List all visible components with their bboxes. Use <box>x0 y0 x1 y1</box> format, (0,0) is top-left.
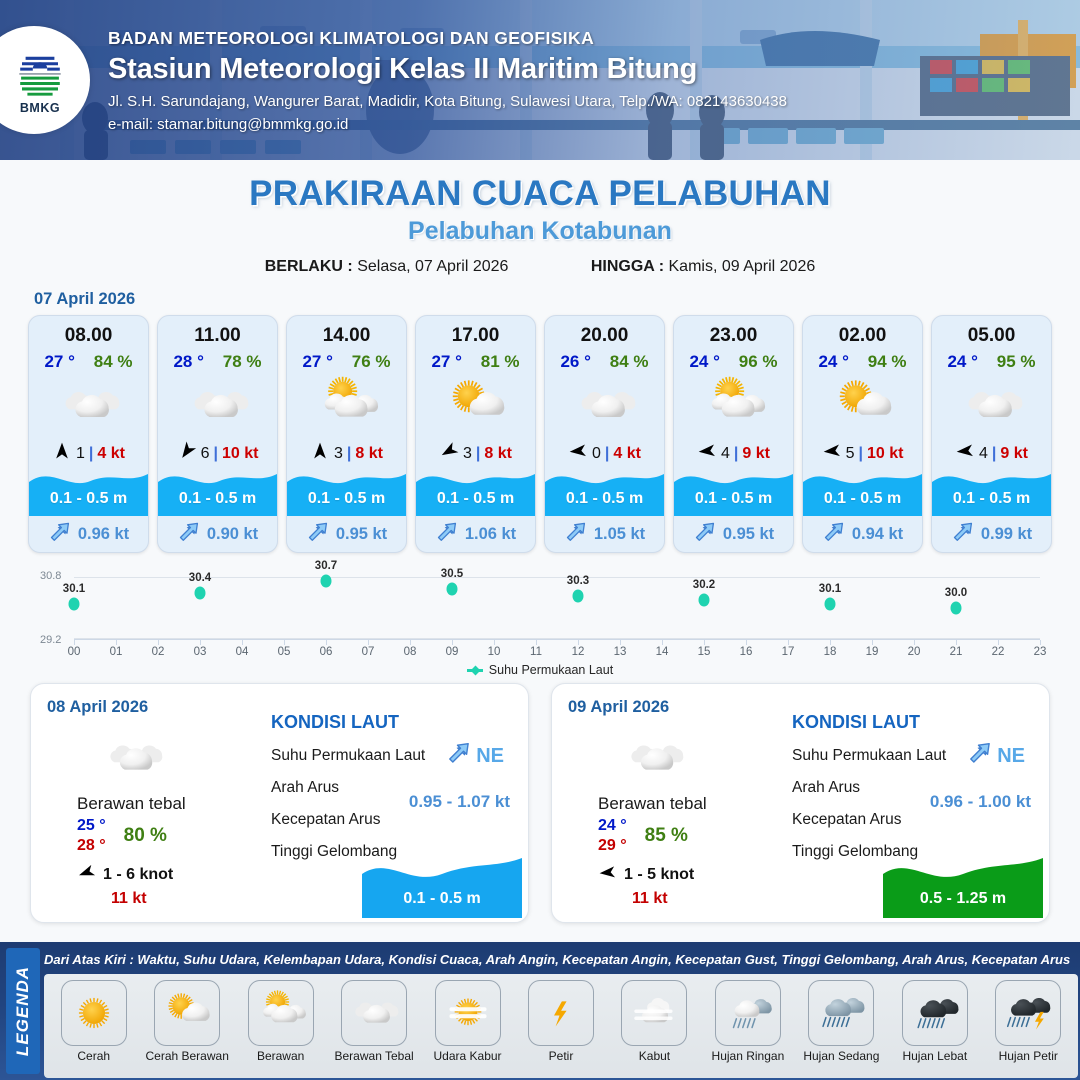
station-email: e-mail: stamar.bitung@bmmkg.go.id <box>108 116 787 133</box>
chart-x-tick <box>788 640 789 645</box>
chart-point-label: 30.1 <box>63 583 85 595</box>
valid-until-label: HINGGA : <box>591 258 664 275</box>
card-current-row: 1.06 kt <box>416 516 535 552</box>
card-wind-direction: 1 <box>76 445 85 463</box>
panel-gust: 11 kt <box>632 890 778 908</box>
chart-x-tick-label: 12 <box>572 646 585 658</box>
card-humidity: 95 % <box>997 352 1036 372</box>
legend-item-label: Hujan Sedang <box>803 1049 879 1063</box>
current-arrow-icon <box>48 520 72 549</box>
chart-x-tick <box>200 640 201 645</box>
current-arrow-icon <box>306 520 330 549</box>
legend-icon-hujan-lebat <box>902 980 968 1046</box>
title-block: PRAKIRAAN CUACA PELABUHAN Pelabuhan Kota… <box>0 160 1080 276</box>
card-wind-speed: 4 kt <box>97 445 125 463</box>
chart-x-tick <box>158 640 159 645</box>
card-current-row: 0.90 kt <box>158 516 277 552</box>
chart-y-tick-label: 30.8 <box>40 570 61 582</box>
card-humidity: 78 % <box>223 352 262 372</box>
chart-x-tick <box>662 640 663 645</box>
card-wave-graphic: 0.1 - 0.5 m <box>416 464 535 516</box>
forecast-card: 17.00 27 ° 81 % 3 | 8 kt <box>415 315 536 553</box>
forecast-card: 02.00 24 ° 94 % 5 | 10 kt <box>802 315 923 553</box>
card-weather-icon <box>545 375 664 435</box>
chart-x-tick <box>1040 640 1041 645</box>
legend-item-label: Hujan Lebat <box>902 1049 967 1063</box>
chart-data-point <box>321 574 332 587</box>
chart-x-tick <box>620 640 621 645</box>
legend-icon-hujan-sedang <box>808 980 874 1046</box>
card-weather-icon <box>416 375 535 435</box>
legend-icon-strip: Cerah Cerah Berawan <box>44 974 1078 1078</box>
legend-item: Cerah <box>48 980 139 1063</box>
chart-x-tick <box>536 640 537 645</box>
panel-temp-min: 24 ° <box>598 817 627 835</box>
chart-x-tick <box>74 640 75 645</box>
chart-x-tick-label: 18 <box>824 646 837 658</box>
chart-point-label: 30.7 <box>315 560 337 572</box>
card-wind-speed: 8 kt <box>355 445 383 463</box>
card-wind-direction: 3 <box>463 445 472 463</box>
wind-direction-arrow-icon <box>177 441 197 466</box>
chart-data-point <box>195 586 206 599</box>
panel-condition: Berawan tebal <box>77 794 257 814</box>
chart-x-tick-label: 16 <box>740 646 753 658</box>
page-title: PRAKIRAAN CUACA PELABUHAN <box>0 174 1080 214</box>
card-wind-direction: 6 <box>201 445 210 463</box>
chart-x-tick-label: 14 <box>656 646 669 658</box>
wind-separator: | <box>213 445 217 463</box>
legend-item: Berawan <box>235 980 326 1063</box>
card-temperature: 28 ° <box>173 352 203 372</box>
legend-icon-udara-kabur <box>435 980 501 1046</box>
card-time: 14.00 <box>287 316 406 347</box>
wind-separator: | <box>347 445 351 463</box>
legend-icon-cerah-berawan <box>154 980 220 1046</box>
card-humidity: 81 % <box>481 352 520 372</box>
card-wind-row: 6 | 10 kt <box>158 441 277 466</box>
chart-x-tick-label: 06 <box>320 646 333 658</box>
bmkg-emblem-icon <box>13 46 67 100</box>
chart-x-tick-label: 07 <box>362 646 375 658</box>
legend-item-label: Cerah <box>77 1049 110 1063</box>
agency-name: BADAN METEOROLOGI KLIMATOLOGI DAN GEOFIS… <box>108 28 787 49</box>
forecast-card: 23.00 24 ° 96 % 4 | 9 kt <box>673 315 794 553</box>
card-current-speed: 0.96 kt <box>78 525 129 544</box>
chart-x-tick-label: 21 <box>950 646 963 658</box>
chart-x-tick-label: 11 <box>530 646 542 658</box>
card-wind-direction: 5 <box>846 445 855 463</box>
legend-note: Dari Atas Kiri : Waktu, Suhu Udara, Kele… <box>44 952 1076 967</box>
panel-weather-icon <box>77 728 257 788</box>
panel-current-speed-value: 0.96 - 1.00 kt <box>930 792 1031 812</box>
card-wind-row: 0 | 4 kt <box>545 441 664 466</box>
chart-point-label: 30.0 <box>945 587 967 599</box>
panel-wind-range: 1 - 5 knot <box>624 866 694 884</box>
card-wave-graphic: 0.1 - 0.5 m <box>287 464 406 516</box>
wind-separator: | <box>858 445 862 463</box>
card-temperature: 26 ° <box>560 352 590 372</box>
legend-icon-kabut <box>621 980 687 1046</box>
wind-direction-arrow-icon <box>310 441 330 466</box>
card-time: 02.00 <box>803 316 922 347</box>
card-current-row: 0.99 kt <box>932 516 1051 552</box>
legend-icon-berawan-tebal <box>341 980 407 1046</box>
chart-y-tick-label: 29.2 <box>40 634 61 646</box>
chart-data-point <box>951 602 962 615</box>
card-wave-graphic: 0.1 - 0.5 m <box>674 464 793 516</box>
current-arrow-icon <box>564 520 588 549</box>
card-time: 05.00 <box>932 316 1051 347</box>
card-wave-graphic: 0.1 - 0.5 m <box>545 464 664 516</box>
card-current-speed: 1.05 kt <box>594 525 645 544</box>
legend-icon-cerah <box>61 980 127 1046</box>
chart-legend: Suhu Permukaan Laut <box>28 663 1052 677</box>
panel-wind-range: 1 - 6 knot <box>103 866 173 884</box>
chart-x-tick <box>956 640 957 645</box>
chart-x-tick-label: 04 <box>236 646 249 658</box>
panel-sea-heading: KONDISI LAUT <box>792 712 1037 733</box>
card-wind-speed: 9 kt <box>1000 445 1028 463</box>
card-time: 08.00 <box>29 316 148 347</box>
bmkg-logo-label: BMKG <box>20 101 60 115</box>
panel-temp-max: 29 ° <box>598 837 627 855</box>
card-current-row: 0.95 kt <box>287 516 406 552</box>
card-temperature: 24 ° <box>818 352 848 372</box>
card-wind-speed: 10 kt <box>222 445 258 463</box>
legend-icon-hujan-ringan <box>715 980 781 1046</box>
chart-x-tick-label: 17 <box>782 646 795 658</box>
chart-x-tick <box>326 640 327 645</box>
daily-forecast-panels: 08 April 2026 Berawan tebal 25 ° 28 ° <box>0 683 1080 923</box>
panel-weather-icon <box>598 728 778 788</box>
chart-x-tick-label: 00 <box>68 646 81 658</box>
forecast-day-label: 07 April 2026 <box>34 290 1080 309</box>
card-temperature: 24 ° <box>689 352 719 372</box>
wind-direction-arrow-icon <box>439 441 459 466</box>
wind-direction-arrow-icon <box>568 441 588 466</box>
station-name: Stasiun Meteorologi Kelas II Maritim Bit… <box>108 53 787 86</box>
legend-icon-petir <box>528 980 594 1046</box>
current-arrow-icon <box>446 740 472 772</box>
chart-data-point <box>447 582 458 595</box>
chart-x-tick-label: 10 <box>488 646 501 658</box>
card-wind-row: 4 | 9 kt <box>674 441 793 466</box>
legend-icon-berawan <box>248 980 314 1046</box>
legend-item-label: Cerah Berawan <box>145 1049 228 1063</box>
card-humidity: 84 % <box>610 352 649 372</box>
card-wave-graphic: 0.1 - 0.5 m <box>29 464 148 516</box>
wind-separator: | <box>89 445 93 463</box>
card-wave-height: 0.1 - 0.5 m <box>29 490 148 508</box>
wind-direction-arrow-icon <box>697 441 717 466</box>
panel-wave-height-value: 0.1 - 0.5 m <box>362 890 522 908</box>
card-wind-direction: 0 <box>592 445 601 463</box>
chart-x-tick <box>578 640 579 645</box>
card-wind-row: 3 | 8 kt <box>416 441 535 466</box>
chart-point-label: 30.1 <box>819 583 841 595</box>
current-arrow-icon <box>967 740 993 772</box>
legend-item: Berawan Tebal <box>328 980 419 1063</box>
chart-x-tick-label: 23 <box>1034 646 1047 658</box>
card-wave-graphic: 0.1 - 0.5 m <box>158 464 277 516</box>
legend-item-label: Berawan Tebal <box>335 1049 414 1063</box>
daily-forecast-panel: 09 April 2026 Berawan tebal 24 ° 29 ° <box>551 683 1050 923</box>
card-wave-graphic: 0.1 - 0.5 m <box>803 464 922 516</box>
card-weather-icon <box>287 375 406 435</box>
chart-x-tick-label: 15 <box>698 646 711 658</box>
card-humidity: 84 % <box>94 352 133 372</box>
card-wave-height: 0.1 - 0.5 m <box>932 490 1051 508</box>
chart-x-tick <box>872 640 873 645</box>
chart-x-tick-label: 19 <box>866 646 879 658</box>
card-weather-icon <box>29 375 148 435</box>
card-wind-row: 1 | 4 kt <box>29 441 148 466</box>
panel-temp-min: 25 ° <box>77 817 106 835</box>
card-weather-icon <box>674 375 793 435</box>
card-current-row: 0.96 kt <box>29 516 148 552</box>
forecast-card: 08.00 27 ° 84 % 1 | 4 kt <box>28 315 149 553</box>
chart-point-label: 30.4 <box>189 572 211 584</box>
card-humidity: 94 % <box>868 352 907 372</box>
panel-temp-max: 28 ° <box>77 837 106 855</box>
chart-x-tick <box>116 640 117 645</box>
chart-x-tick-label: 05 <box>278 646 291 658</box>
wind-separator: | <box>734 445 738 463</box>
current-arrow-icon <box>693 520 717 549</box>
current-arrow-icon <box>951 520 975 549</box>
card-wave-height: 0.1 - 0.5 m <box>158 490 277 508</box>
chart-x-tick <box>998 640 999 645</box>
chart-x-tick <box>704 640 705 645</box>
panel-wave-graphic: 0.1 - 0.5 m <box>362 852 522 918</box>
chart-x-tick <box>368 640 369 645</box>
panel-sea-heading: KONDISI LAUT <box>271 712 516 733</box>
chart-x-tick <box>410 640 411 645</box>
card-weather-icon <box>932 375 1051 435</box>
card-temperature: 27 ° <box>431 352 461 372</box>
chart-x-tick-label: 08 <box>404 646 417 658</box>
chart-x-tick <box>746 640 747 645</box>
legend-item: Petir <box>515 980 606 1063</box>
card-weather-icon <box>803 375 922 435</box>
card-time: 11.00 <box>158 316 277 347</box>
legend-item-label: Kabut <box>639 1049 670 1063</box>
card-current-speed: 0.95 kt <box>723 525 774 544</box>
hourly-forecast-cards: 08.00 27 ° 84 % 1 | 4 kt <box>0 315 1080 553</box>
wind-separator: | <box>992 445 996 463</box>
panel-current-dir-text: NE <box>476 745 504 768</box>
wind-direction-arrow-icon <box>52 441 72 466</box>
card-wind-row: 4 | 9 kt <box>932 441 1051 466</box>
forecast-card: 20.00 26 ° 84 % 0 | 4 kt <box>544 315 665 553</box>
card-wave-graphic: 0.1 - 0.5 m <box>932 464 1051 516</box>
chart-legend-marker-icon <box>467 666 483 675</box>
validity-row: BERLAKU : Selasa, 07 April 2026 HINGGA :… <box>0 258 1080 276</box>
card-wind-speed: 8 kt <box>484 445 512 463</box>
card-wind-row: 5 | 10 kt <box>803 441 922 466</box>
chart-legend-label: Suhu Permukaan Laut <box>489 663 613 677</box>
chart-x-tick <box>914 640 915 645</box>
legend-item: Hujan Lebat <box>889 980 980 1063</box>
panel-current-direction-value: NE <box>967 740 1025 772</box>
chart-x-tick-label: 09 <box>446 646 459 658</box>
legend-item: Kabut <box>609 980 700 1063</box>
card-humidity: 76 % <box>352 352 391 372</box>
legend-item-label: Petir <box>549 1049 574 1063</box>
chart-data-point <box>699 594 710 607</box>
legend-item: Hujan Sedang <box>796 980 887 1063</box>
card-current-row: 0.95 kt <box>674 516 793 552</box>
legend-item: Udara Kabur <box>422 980 513 1063</box>
card-wave-height: 0.1 - 0.5 m <box>416 490 535 508</box>
legenda-tab: LEGENDA <box>6 948 40 1074</box>
card-weather-icon <box>158 375 277 435</box>
chart-data-point <box>69 598 80 611</box>
legend-item-label: Hujan Petir <box>999 1049 1058 1063</box>
card-wind-speed: 4 kt <box>613 445 641 463</box>
card-wind-speed: 9 kt <box>742 445 770 463</box>
chart-data-point <box>825 598 836 611</box>
card-wind-direction: 4 <box>721 445 730 463</box>
panel-condition: Berawan tebal <box>598 794 778 814</box>
card-wave-height: 0.1 - 0.5 m <box>674 490 793 508</box>
card-wave-height: 0.1 - 0.5 m <box>545 490 664 508</box>
chart-x-tick <box>284 640 285 645</box>
forecast-card: 11.00 28 ° 78 % 6 | 10 kt <box>157 315 278 553</box>
chart-x-tick-label: 22 <box>992 646 1005 658</box>
card-wind-direction: 4 <box>979 445 988 463</box>
card-wind-direction: 3 <box>334 445 343 463</box>
valid-from-label: BERLAKU : <box>265 258 353 275</box>
card-wave-height: 0.1 - 0.5 m <box>287 490 406 508</box>
forecast-card: 14.00 27 ° 76 % 3 | 8 kt <box>286 315 407 553</box>
legend-item-label: Berawan <box>257 1049 304 1063</box>
valid-until-value: Kamis, 09 April 2026 <box>669 258 816 275</box>
chart-x-tick-label: 13 <box>614 646 627 658</box>
daily-forecast-panel: 08 April 2026 Berawan tebal 25 ° 28 ° <box>30 683 529 923</box>
chart-plot-area: 30.829.230.130.430.730.530.330.230.130.0 <box>74 577 1040 639</box>
card-current-speed: 0.95 kt <box>336 525 387 544</box>
sea-surface-temperature-chart: 30.829.230.130.430.730.530.330.230.130.0… <box>28 567 1052 677</box>
legend-footer: LEGENDA Dari Atas Kiri : Waktu, Suhu Uda… <box>0 942 1080 1080</box>
chart-x-tick <box>452 640 453 645</box>
card-current-speed: 0.99 kt <box>981 525 1032 544</box>
panel-wave-graphic: 0.5 - 1.25 m <box>883 852 1043 918</box>
legend-item: Hujan Petir <box>983 980 1074 1063</box>
chart-x-axis: 0001020304050607080910111213141516171819… <box>74 639 1040 661</box>
chart-data-point <box>573 590 584 603</box>
chart-x-tick-label: 02 <box>152 646 165 658</box>
wind-direction-arrow-icon <box>955 441 975 466</box>
panel-wind-arrow-icon <box>77 863 96 887</box>
panel-row-current-speed: Kecepatan Arus <box>271 811 516 829</box>
panel-humidity: 80 % <box>124 825 167 847</box>
card-current-speed: 0.94 kt <box>852 525 903 544</box>
valid-from-value: Selasa, 07 April 2026 <box>357 258 508 275</box>
current-arrow-icon <box>177 520 201 549</box>
card-current-row: 0.94 kt <box>803 516 922 552</box>
panel-current-dir-text: NE <box>997 745 1025 768</box>
chart-x-tick-label: 03 <box>194 646 207 658</box>
card-time: 23.00 <box>674 316 793 347</box>
legenda-tab-label: LEGENDA <box>13 966 33 1056</box>
card-current-row: 1.05 kt <box>545 516 664 552</box>
panel-gust: 11 kt <box>111 890 257 908</box>
chart-gridline <box>74 577 1040 578</box>
card-current-speed: 0.90 kt <box>207 525 258 544</box>
wind-separator: | <box>476 445 480 463</box>
card-temperature: 24 ° <box>947 352 977 372</box>
current-arrow-icon <box>435 520 459 549</box>
card-time: 17.00 <box>416 316 535 347</box>
chart-x-tick-label: 01 <box>110 646 123 658</box>
forecast-card: 05.00 24 ° 95 % 4 | 9 kt <box>931 315 1052 553</box>
chart-point-label: 30.5 <box>441 568 463 580</box>
legend-item-label: Udara Kabur <box>434 1049 502 1063</box>
chart-point-label: 30.3 <box>567 575 589 587</box>
panel-current-direction-value: NE <box>446 740 504 772</box>
chart-x-tick-label: 20 <box>908 646 921 658</box>
wind-direction-arrow-icon <box>822 441 842 466</box>
card-wave-height: 0.1 - 0.5 m <box>803 490 922 508</box>
current-arrow-icon <box>822 520 846 549</box>
station-address: Jl. S.H. Sarundajang, Wangurer Barat, Ma… <box>108 93 787 110</box>
card-humidity: 96 % <box>739 352 778 372</box>
card-current-speed: 1.06 kt <box>465 525 516 544</box>
chart-x-tick <box>494 640 495 645</box>
page-subtitle: Pelabuhan Kotabunan <box>0 217 1080 246</box>
chart-point-label: 30.2 <box>693 579 715 591</box>
panel-humidity: 85 % <box>645 825 688 847</box>
panel-wave-height-value: 0.5 - 1.25 m <box>883 890 1043 908</box>
card-time: 20.00 <box>545 316 664 347</box>
panel-wind-arrow-icon <box>598 863 617 887</box>
legend-item: Cerah Berawan <box>141 980 232 1063</box>
card-wind-speed: 10 kt <box>867 445 903 463</box>
wind-separator: | <box>605 445 609 463</box>
card-temperature: 27 ° <box>302 352 332 372</box>
legend-icon-hujan-petir <box>995 980 1061 1046</box>
card-temperature: 27 ° <box>44 352 74 372</box>
card-wind-row: 3 | 8 kt <box>287 441 406 466</box>
legend-item: Hujan Ringan <box>702 980 793 1063</box>
panel-row-current-speed: Kecepatan Arus <box>792 811 1037 829</box>
legend-item-label: Hujan Ringan <box>712 1049 785 1063</box>
panel-current-speed-value: 0.95 - 1.07 kt <box>409 792 510 812</box>
page-header: BMKG BADAN METEOROLOGI KLIMATOLOGI DAN G… <box>0 0 1080 160</box>
chart-x-tick <box>242 640 243 645</box>
chart-x-tick <box>830 640 831 645</box>
